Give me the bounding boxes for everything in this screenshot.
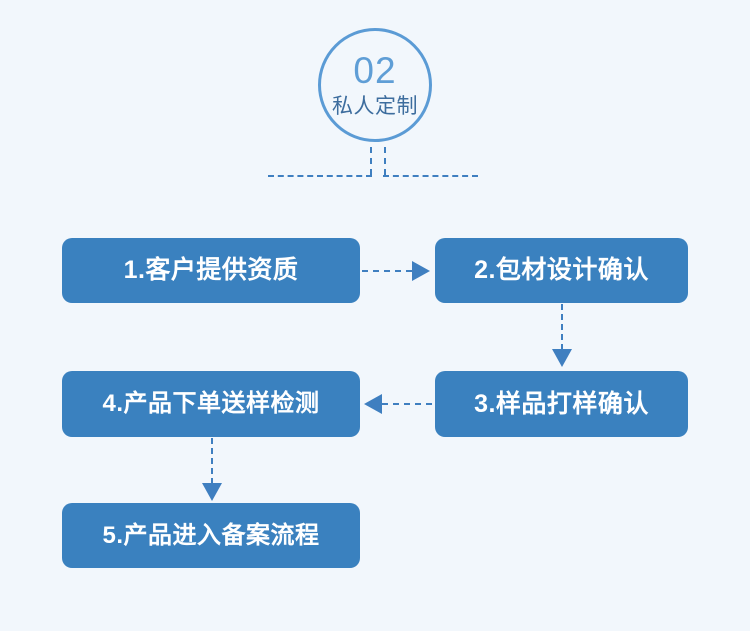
arrow-right-icon bbox=[412, 261, 430, 281]
badge-rail-right-line bbox=[383, 175, 478, 177]
flow-step-4-label: 4.产品下单送样检测 bbox=[102, 392, 319, 416]
connector-2-to-3-line bbox=[561, 304, 563, 350]
flow-step-3[interactable]: 3.样品打样确认 bbox=[435, 371, 688, 437]
flow-step-1[interactable]: 1.客户提供资质 bbox=[62, 238, 360, 303]
badge-stem-right-line bbox=[384, 147, 386, 175]
flow-step-3-label: 3.样品打样确认 bbox=[474, 392, 649, 417]
arrow-left-icon bbox=[364, 394, 382, 414]
flow-step-4[interactable]: 4.产品下单送样检测 bbox=[62, 371, 360, 437]
flow-step-5-label: 5.产品进入备案流程 bbox=[102, 524, 319, 548]
flowchart-canvas: 02 私人定制 1.客户提供资质 2.包材设计确认 3.样品打样确认 4.产品下… bbox=[0, 0, 750, 631]
connector-4-to-5-line bbox=[211, 438, 213, 484]
arrow-down-icon bbox=[552, 349, 572, 367]
section-badge-number: 02 bbox=[353, 52, 396, 89]
section-badge-caption: 私人定制 bbox=[332, 96, 418, 117]
arrow-down-icon bbox=[202, 483, 222, 501]
section-badge: 02 私人定制 bbox=[318, 28, 432, 142]
flow-step-2[interactable]: 2.包材设计确认 bbox=[435, 238, 688, 303]
connector-1-to-2-line bbox=[362, 270, 412, 272]
badge-stem-left-line bbox=[370, 147, 372, 175]
badge-rail-left-line bbox=[268, 175, 372, 177]
flow-step-5[interactable]: 5.产品进入备案流程 bbox=[62, 503, 360, 568]
connector-3-to-4-line bbox=[382, 403, 432, 405]
flow-step-2-label: 2.包材设计确认 bbox=[474, 258, 649, 283]
flow-step-1-label: 1.客户提供资质 bbox=[124, 258, 299, 283]
